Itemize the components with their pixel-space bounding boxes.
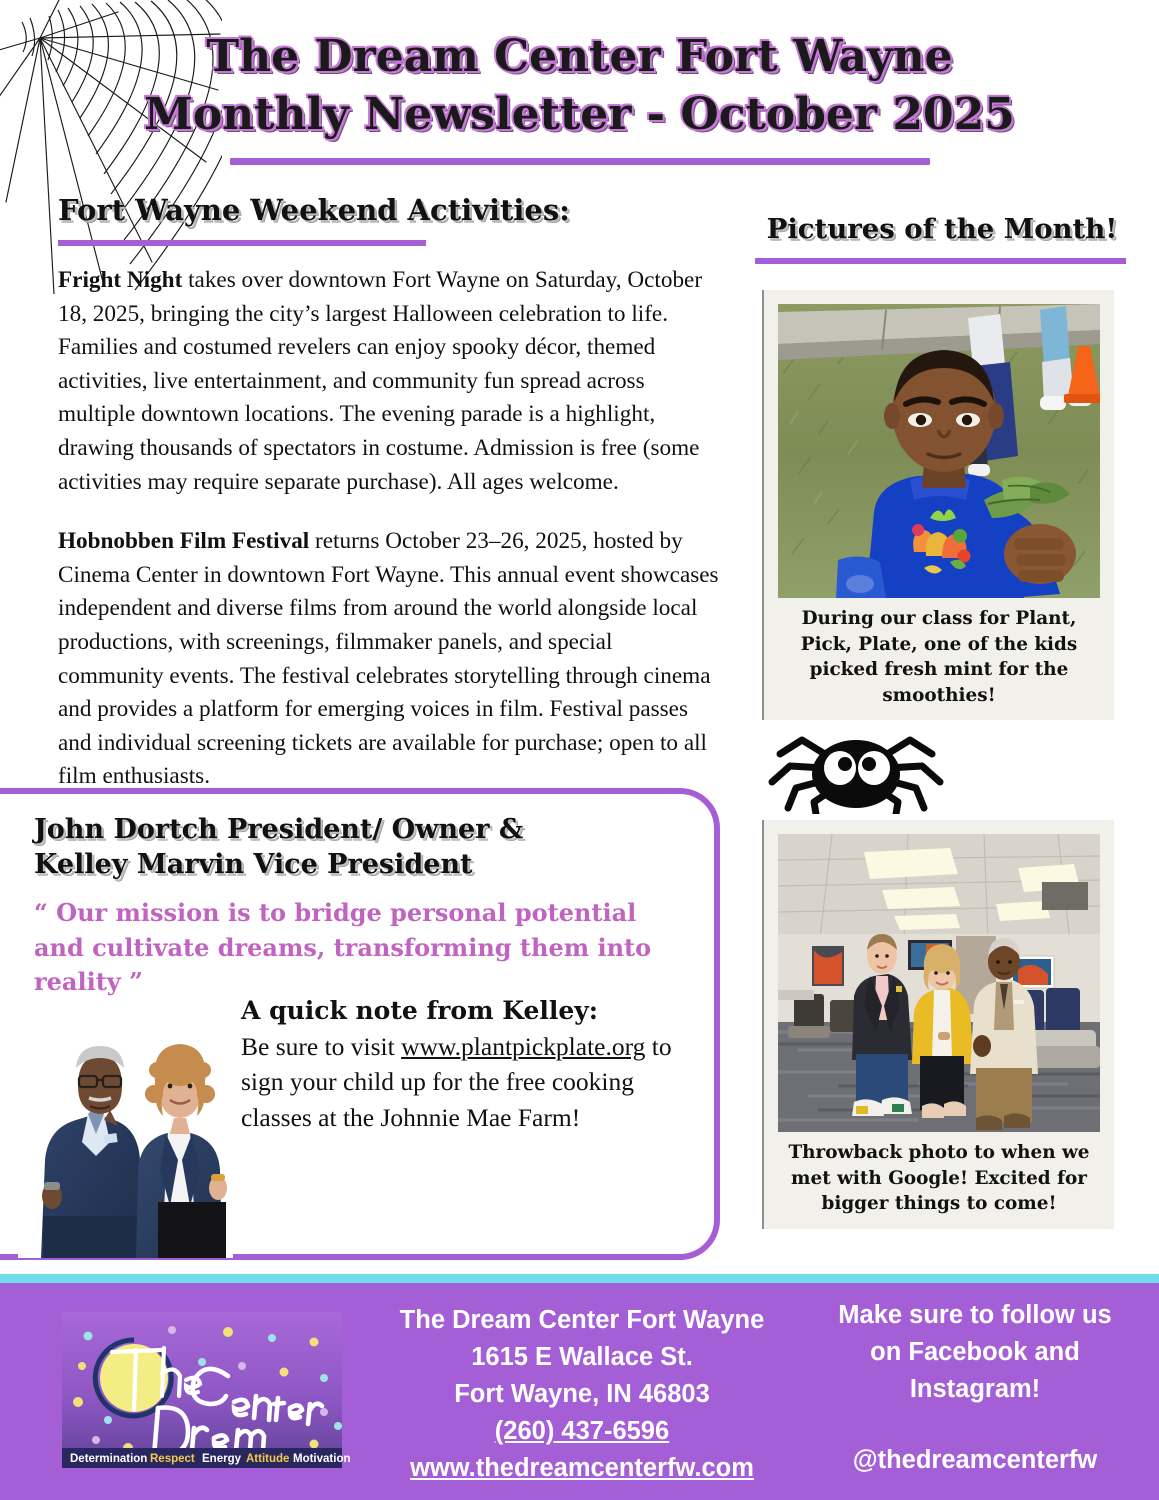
footer-org-name: The Dream Center Fort Wayne bbox=[382, 1302, 782, 1339]
logo-tagline-determination: Determination bbox=[70, 1453, 147, 1465]
spider-icon bbox=[766, 726, 946, 814]
plantpickplate-link[interactable]: www.plantpickplate.org bbox=[401, 1032, 645, 1061]
footer-social-handle[interactable]: @thedreamcenterfw bbox=[800, 1442, 1150, 1479]
article-body-fright-night: takes over downtown Fort Wayne on Saturd… bbox=[58, 267, 702, 495]
logo-tagline-attitude: Attitude bbox=[246, 1453, 289, 1465]
footer-phone[interactable]: (260) 437-6596 bbox=[382, 1413, 782, 1450]
photo-caption-google: Throwback photo to when we met with Goog… bbox=[778, 1132, 1100, 1219]
child-holding-mint-leaf-photo bbox=[778, 304, 1100, 598]
footer-address-street: 1615 E Wallace St. bbox=[382, 1339, 782, 1376]
footer-website[interactable]: www.thedreamcenterfw.com bbox=[382, 1450, 782, 1487]
google-office-group-photo bbox=[778, 834, 1100, 1132]
header-divider bbox=[230, 158, 930, 165]
pictures-divider bbox=[755, 258, 1126, 264]
section-heading-pictures: Pictures of the Month! bbox=[752, 212, 1132, 246]
footer-social-line-3: Instagram! bbox=[800, 1371, 1150, 1408]
newsletter-title-line-1: The Dream Center Fort Wayne bbox=[0, 28, 1159, 86]
article-fright-night: Fright Night takes over downtown Fort Wa… bbox=[58, 264, 723, 499]
kelley-note-text-before: Be sure to visit bbox=[241, 1032, 401, 1061]
footer-cyan-accent-strip bbox=[0, 1274, 1159, 1283]
logo-tagline-motivation: Motivation bbox=[293, 1453, 351, 1465]
kelley-note-heading: A quick note from Kelley: bbox=[241, 993, 681, 1029]
leadership-names-block: John Dortch President/ Owner & Kelley Ma… bbox=[34, 812, 724, 1000]
newsletter-title-line-2: Monthly Newsletter - October 2025 bbox=[0, 86, 1159, 144]
photo-frame-mint bbox=[778, 304, 1100, 598]
dream-center-logo: Determination Respect Energy Attitude Mo… bbox=[52, 1300, 352, 1480]
newsletter-header: The Dream Center Fort Wayne Monthly News… bbox=[0, 28, 1159, 165]
footer-social-block: Make sure to follow us on Facebook and I… bbox=[800, 1297, 1150, 1479]
logo-tagline-respect: Respect bbox=[150, 1453, 195, 1465]
footer-social-line-2: on Facebook and bbox=[800, 1334, 1150, 1371]
article-lead-fright-night: Fright Night bbox=[58, 267, 182, 293]
mission-statement-quote: “ Our mission is to bridge personal pote… bbox=[34, 896, 674, 1000]
footer-social-line-1: Make sure to follow us bbox=[800, 1297, 1150, 1334]
kelley-note-text: Be sure to visit www.plantpickplate.org … bbox=[241, 1029, 681, 1136]
weekend-activities-section: Fort Wayne Weekend Activities: Fright Ni… bbox=[58, 192, 723, 820]
article-body-hobnobben: returns October 23–26, 2025, hosted by C… bbox=[58, 528, 719, 789]
leader-name-line-1: John Dortch President/ Owner & bbox=[34, 812, 724, 847]
footer-address-city: Fort Wayne, IN 46803 bbox=[382, 1376, 782, 1413]
section-heading-weekend-activities: Fort Wayne Weekend Activities: bbox=[58, 192, 723, 228]
photo-frame-google bbox=[778, 834, 1100, 1132]
leader-name-line-2: Kelley Marvin Vice President bbox=[34, 847, 724, 882]
photo-card-mint: During our class for Plant, Pick, Plate,… bbox=[762, 290, 1114, 720]
logo-tagline-energy: Energy bbox=[202, 1453, 242, 1465]
section-divider bbox=[58, 240, 426, 246]
footer-address-block: The Dream Center Fort Wayne 1615 E Walla… bbox=[382, 1302, 782, 1487]
photo-card-google: Throwback photo to when we met with Goog… bbox=[762, 820, 1114, 1229]
photo-caption-mint: During our class for Plant, Pick, Plate,… bbox=[778, 598, 1100, 710]
leaders-portrait-photo bbox=[18, 1010, 233, 1258]
pictures-of-the-month-section: Pictures of the Month! bbox=[752, 212, 1132, 264]
article-lead-hobnobben: Hobnobben Film Festival bbox=[58, 528, 309, 554]
kelley-note-block: A quick note from Kelley: Be sure to vis… bbox=[241, 993, 681, 1135]
article-hobnobben: Hobnobben Film Festival returns October … bbox=[58, 525, 723, 794]
